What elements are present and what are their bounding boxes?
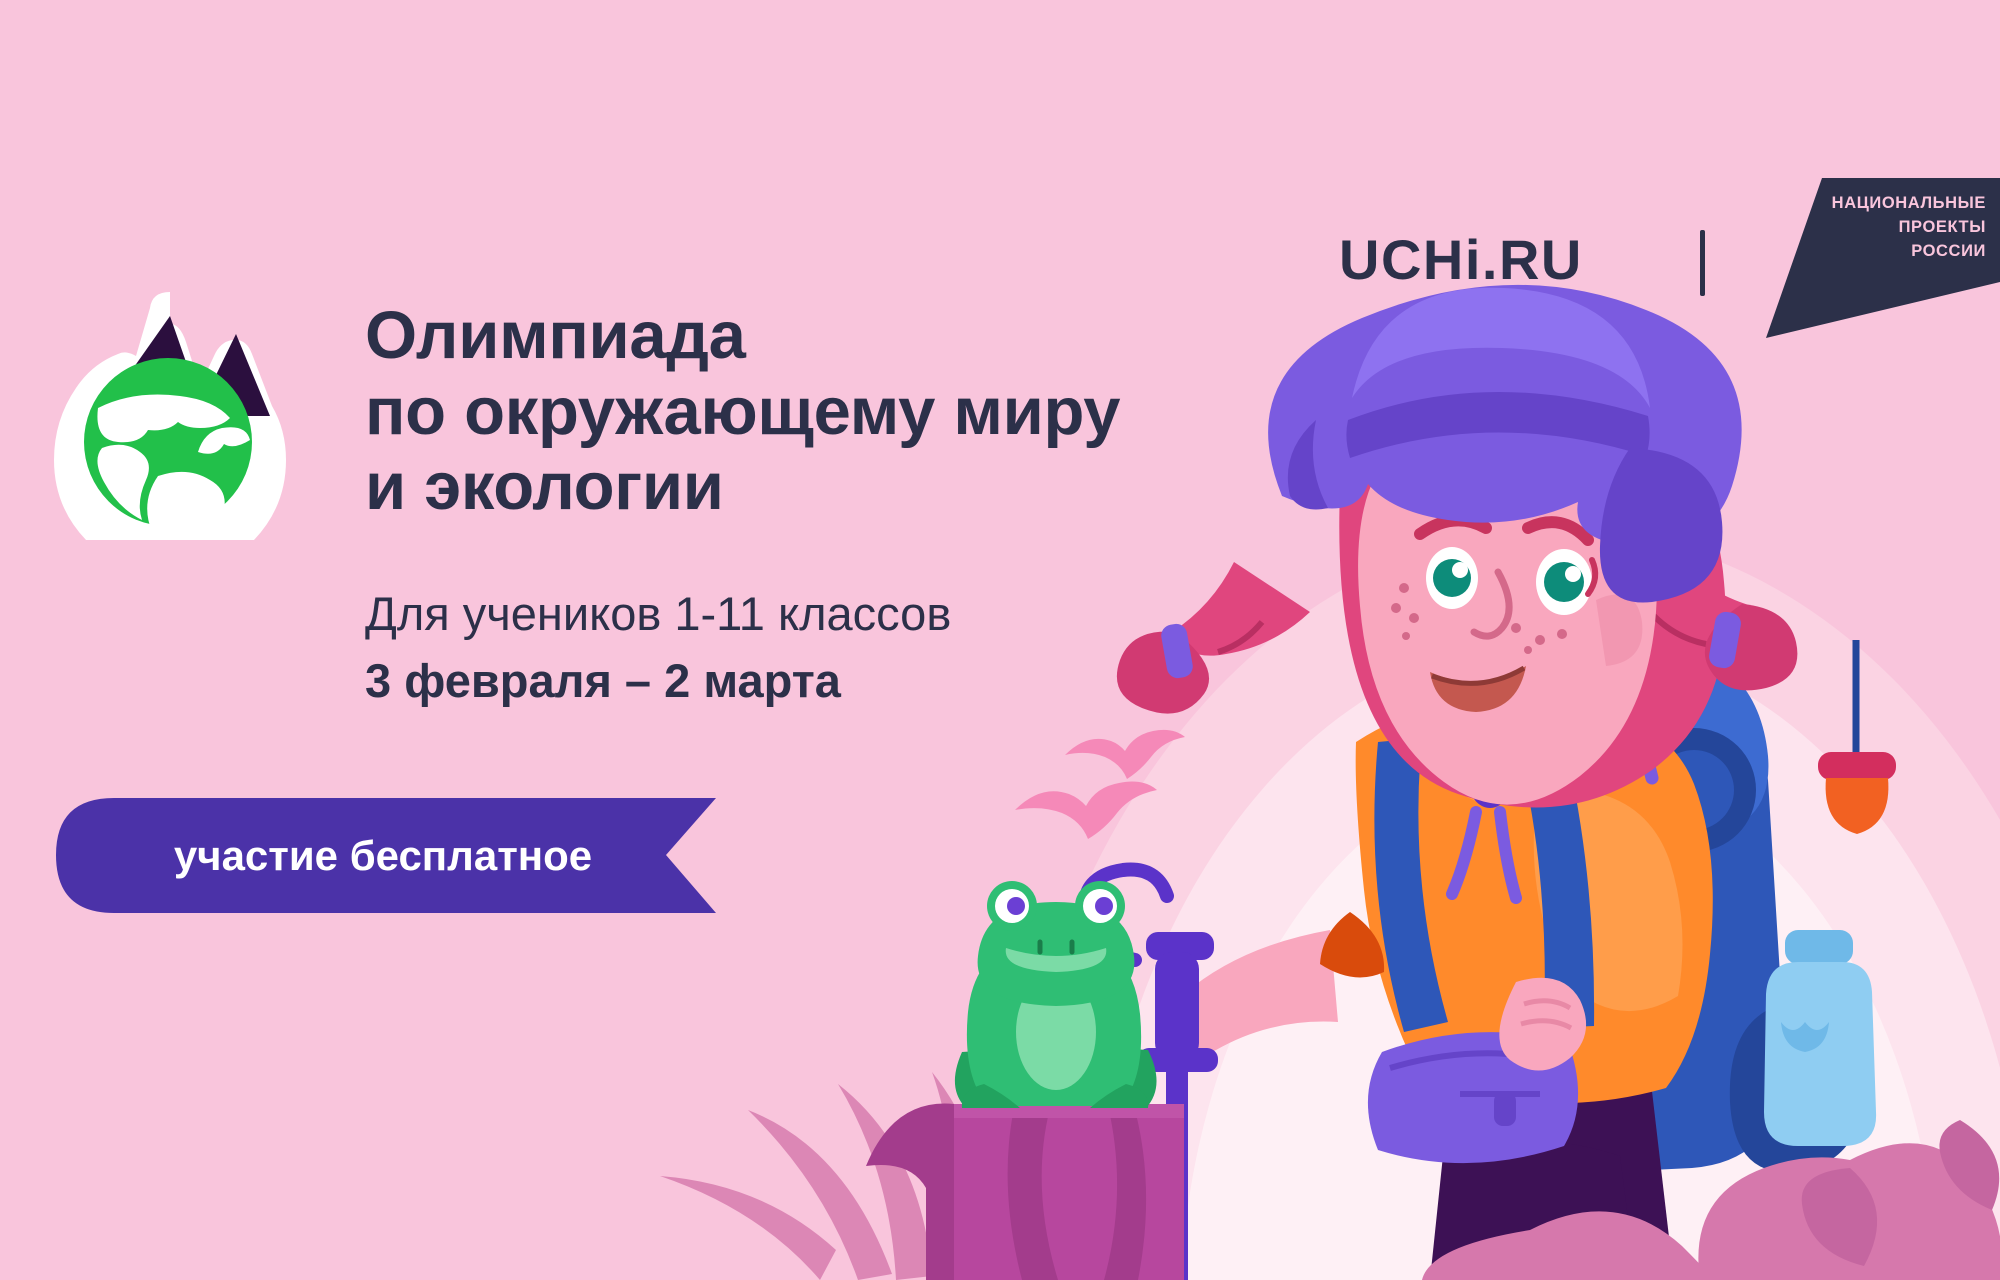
dates-line: 3 февраля – 2 марта [365, 653, 841, 708]
globe-mountains-icon [40, 280, 300, 540]
uchi-ru-logo[interactable]: UCHi.RU [1339, 232, 1583, 288]
national-projects-badge[interactable]: НАЦИОНАЛЬНЫЕ ПРОЕКТЫ РОССИИ [1762, 178, 2000, 338]
logo-divider [1700, 230, 1705, 296]
headline-line-3: и экологии [365, 449, 1365, 525]
np-line-1: НАЦИОНАЛЬНЫЕ [1832, 192, 1986, 216]
foreground-scenery [0, 0, 2000, 1280]
bush [1698, 1120, 2000, 1280]
headline-line-1: Олимпиада [365, 298, 1365, 374]
ribbon-label: участие бесплатное [56, 798, 696, 913]
np-line-3: РОССИИ [1832, 240, 1986, 264]
headline-line-2: по окружающему миру [365, 374, 1365, 450]
frog [955, 881, 1157, 1108]
grades-line: Для учеников 1-11 классов [365, 586, 951, 641]
national-projects-label: НАЦИОНАЛЬНЫЕ ПРОЕКТЫ РОССИИ [1832, 192, 1986, 263]
page-title: Олимпиада по окружающему миру и экологии [365, 298, 1365, 525]
np-line-2: ПРОЕКТЫ [1832, 216, 1986, 240]
bush [1422, 1211, 1713, 1280]
promo-banner: Олимпиада по окружающему миру и экологии… [0, 0, 2000, 1280]
free-participation-ribbon: участие бесплатное [56, 798, 766, 913]
